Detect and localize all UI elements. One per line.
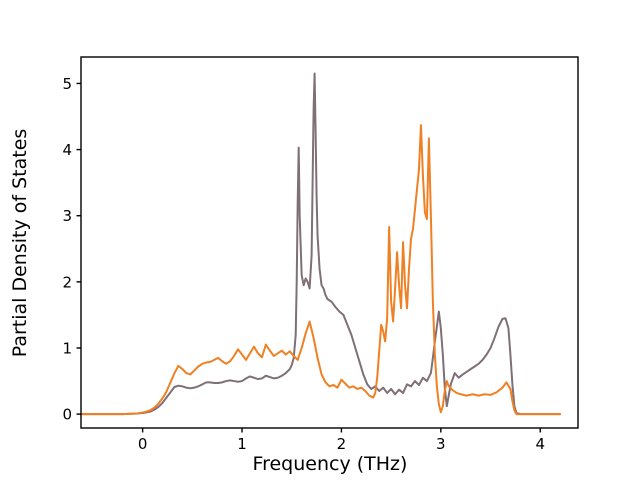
y-tick-label: 4: [62, 141, 72, 159]
x-axis-label: Frequency (THz): [253, 453, 408, 475]
y-tick-label: 3: [62, 207, 72, 225]
y-axis-label: Partial Density of States: [9, 129, 31, 358]
x-tick-label: 3: [436, 435, 446, 453]
y-tick-label: 2: [62, 273, 72, 291]
y-tick-label: 5: [62, 75, 72, 93]
x-tick-label: 2: [337, 435, 347, 453]
chart-background: [0, 0, 640, 480]
figure-canvas: 01234012345 Frequency (THz) Partial Dens…: [0, 0, 640, 480]
x-tick-label: 0: [138, 435, 148, 453]
partial-dos-chart: 01234012345 Frequency (THz) Partial Dens…: [0, 0, 640, 480]
x-tick-label: 1: [237, 435, 247, 453]
x-tick-label: 4: [535, 435, 545, 453]
y-tick-label: 1: [62, 339, 72, 357]
y-tick-label: 0: [62, 406, 72, 424]
